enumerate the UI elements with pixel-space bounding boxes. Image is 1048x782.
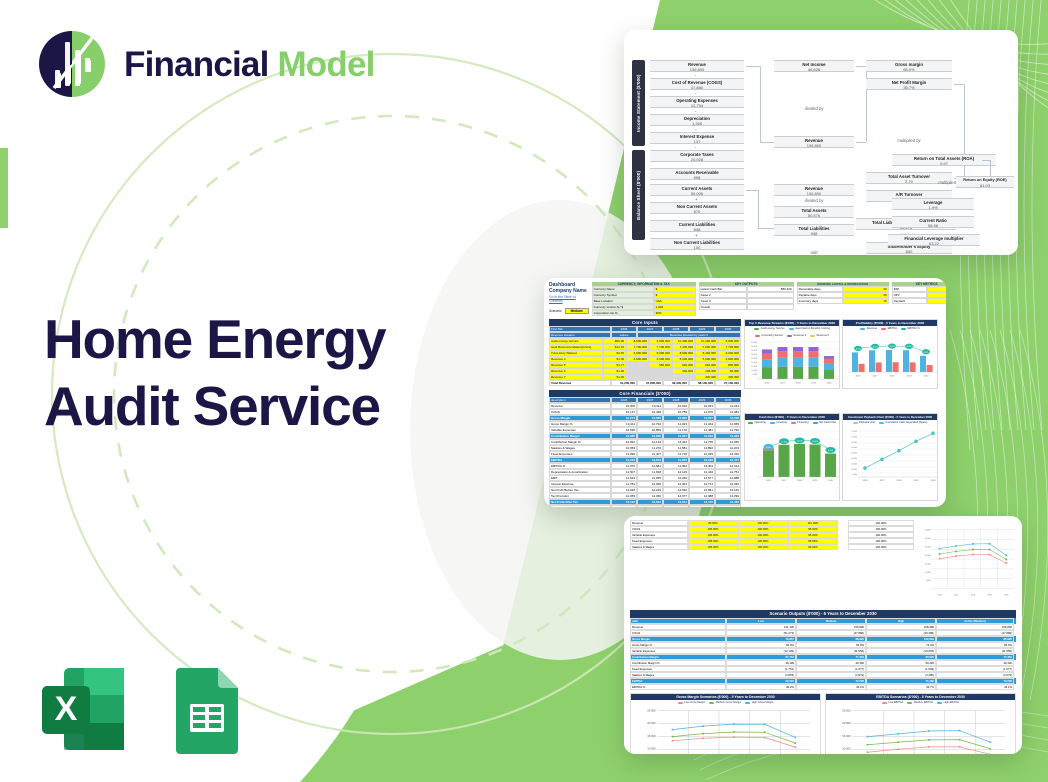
svg-text:15,000: 15,000 <box>842 734 851 738</box>
chart-profitability[interactable]: Profitability ($'000) - 5 Years to Decem… <box>842 319 938 389</box>
currency-info-panel: CURRENCY, INFORMATION & TAX Currency Nam… <box>592 282 696 316</box>
flow-box: Total Liabilities 948 <box>774 224 854 236</box>
svg-text:-: - <box>930 589 931 591</box>
operator-label: add <box>774 250 854 255</box>
svg-text:10,000: 10,000 <box>647 747 656 751</box>
legend-entry: Low EBITDA <box>882 701 903 704</box>
svg-text:25,000: 25,000 <box>647 709 656 713</box>
svg-text:30,000: 30,000 <box>851 458 857 460</box>
table-row: 100.00% <box>848 544 914 550</box>
flow-box: Operating Expenses 12,754 <box>650 96 744 108</box>
svg-text:25,000: 25,000 <box>842 709 851 713</box>
connector <box>856 142 866 143</box>
svg-text:35,000: 35,000 <box>925 530 932 532</box>
svg-text:2027: 2027 <box>780 383 786 385</box>
flow-box: Interest Expense 137 <box>650 132 744 144</box>
key-metrics-panel: KEY METRICS IRR48% NPV66,200 Payback2.1 <box>892 282 946 304</box>
svg-text:20,000: 20,000 <box>842 721 851 725</box>
chart-title: Gross Margin Scenarios ($'000) - 5 Years… <box>631 694 820 701</box>
scenario-table-title: Scenario Outputs ($'000) - 5 Years to De… <box>630 610 1016 618</box>
page-title: Home Energy Audit Service <box>44 306 504 440</box>
operator-label: divided by <box>774 198 854 203</box>
svg-text:8,000: 8,000 <box>766 447 772 449</box>
legend-entry: Medium EBITDA <box>907 701 933 704</box>
flow-box: Net Profit Margin 35.7% <box>866 78 952 90</box>
svg-text:-: - <box>756 378 757 380</box>
svg-text:15,000: 15,000 <box>647 734 656 738</box>
scenario-top-chart[interactable]: 35,00030,00025,00020,00015,00010,0005,00… <box>918 520 1016 607</box>
working-capital-panel: WORKING CAPITAL & DEPRECIATION Receivabl… <box>797 282 889 304</box>
flow-box: Accounts Receivable 998 <box>650 168 744 180</box>
scenario-active-table: 100.00%100.00%100.00%100.00%100.00% <box>848 520 914 607</box>
svg-text:44.5%: 44.5% <box>889 346 895 348</box>
chart-plot: 25,00020,00015,00010,0005,000- 202620272… <box>826 705 1015 754</box>
dashboard-sheet: Dashboard Company Name Go to the Table o… <box>544 278 946 507</box>
svg-text:2030: 2030 <box>924 376 930 378</box>
flow-box: Revenue 136,800 <box>774 184 854 196</box>
dashboard-charts: Top 5 Revenue Streams ($'000) - 5 Years … <box>744 319 940 507</box>
flow-box: Corporate Taxes 20,928 <box>650 150 744 162</box>
svg-text:10,000: 10,000 <box>925 572 932 574</box>
legend-entry: Revenue 4 <box>787 334 806 337</box>
svg-text:42.6%: 42.6% <box>923 352 929 354</box>
chart-plot: 8,00011,70012,10011,9008,700 20262027202… <box>745 425 841 489</box>
financial-model-logo-icon <box>36 28 108 100</box>
legend-entry: Operating <box>748 421 766 424</box>
svg-text:2029: 2029 <box>907 376 913 378</box>
legend-entry: Revenue 5 <box>810 334 829 337</box>
svg-text:5,000: 5,000 <box>752 374 757 376</box>
scenario-value[interactable]: Medium <box>565 308 589 314</box>
operator-label: multiplied by <box>866 138 952 143</box>
brand-logo: Financial Model <box>36 28 375 100</box>
scenario-selector[interactable]: Scenario Medium <box>549 308 589 314</box>
svg-text:50,000: 50,000 <box>851 448 857 450</box>
scenario-active-rows: 100.00%100.00%100.00%100.00%100.00% <box>848 520 914 550</box>
svg-text:2027: 2027 <box>873 376 879 378</box>
chart-legend: Audit energy ServiceHeat Flash & Benefit… <box>745 326 839 338</box>
svg-text:2030: 2030 <box>828 480 834 482</box>
svg-text:2030: 2030 <box>931 480 937 482</box>
legend-entry: EBITDA <box>881 327 897 330</box>
svg-text:2030: 2030 <box>827 383 833 385</box>
core-inputs-block: Core Inputs First Tab2026202720282029203… <box>549 319 741 507</box>
stream-rows: Audit energy Service$69.008,900,0009,900… <box>549 338 741 380</box>
legend-entry: Heat Flash & Benefits Costing <box>789 327 830 330</box>
svg-text:30,000: 30,000 <box>751 354 757 356</box>
svg-text:25,000: 25,000 <box>925 546 932 548</box>
connector <box>982 160 990 161</box>
svg-text:8,700: 8,700 <box>828 450 834 452</box>
flow-box: Current Ratio 58.98 <box>892 216 974 228</box>
dashboard-heading-2: Company Name <box>549 288 589 294</box>
chart-cash-flow[interactable]: Cash flow ($'000) - 5 Years to December … <box>744 413 840 501</box>
svg-text:2028: 2028 <box>796 383 802 385</box>
scenario-bottom-charts: Gross Margin Scenarios ($'000) - 5 Years… <box>630 693 1016 754</box>
google-sheets-icon <box>162 664 252 754</box>
svg-text:75,000: 75,000 <box>851 431 857 433</box>
svg-text:2028: 2028 <box>797 480 803 482</box>
logo-word-model: Model <box>277 45 374 84</box>
toc-link[interactable]: Go to the Table of Contents <box>549 295 589 303</box>
svg-text:X: X <box>55 690 78 728</box>
connector <box>760 66 761 142</box>
svg-text:2027: 2027 <box>954 594 958 596</box>
legend-entry: High Gross Margin <box>745 701 773 704</box>
chart-plot: 20262027202820292030 75,00070,00060,0005… <box>843 425 939 489</box>
flow-box: Non Current Liabilities 100 <box>650 238 744 250</box>
svg-text:20,000: 20,000 <box>751 362 757 364</box>
legend-entry: Cumulative Cash Generated (Spare) <box>879 421 928 424</box>
chart-investment-payback[interactable]: Investment Payback Chart ($'000) - 5 Yea… <box>842 413 938 501</box>
table-row: Salaries & Wages105.00%100.00%95.00% <box>630 544 838 550</box>
svg-text:30,000: 30,000 <box>925 538 932 540</box>
flow-box: Net Income 46,828 <box>774 60 854 72</box>
scenario-assumption-table: Revenue80.00%100.00%110.00%COGS105.00%10… <box>630 520 838 607</box>
svg-text:43.9%: 43.9% <box>872 347 878 349</box>
svg-text:10,000: 10,000 <box>851 469 857 471</box>
scenario-table-rows: Revenue131,130156,800168,480156,800COGS(… <box>630 624 1016 690</box>
chart-plot: 20262027202820292030 45,00040,00035,0003… <box>745 338 841 386</box>
svg-text:20,000: 20,000 <box>647 721 656 725</box>
scenario-label: Scenario <box>549 309 562 313</box>
svg-text:11,900: 11,900 <box>812 441 819 443</box>
legend-entry: Medium Gross Margin <box>709 701 741 704</box>
svg-text:15,000: 15,000 <box>751 366 757 368</box>
flow-box: Revenue 136,800 <box>774 136 854 148</box>
screenshot-financial-flow-diagram[interactable]: Income Statement ($'000) Balance Sheet (… <box>624 30 1018 255</box>
svg-text:2029: 2029 <box>987 594 991 596</box>
screenshot-dashboard[interactable]: Dashboard Company Name Go to the Table o… <box>544 278 946 507</box>
total-revenue-label: Total Revenue <box>549 380 611 386</box>
svg-text:2028: 2028 <box>897 480 903 482</box>
dashboard-body: Core Inputs First Tab2026202720282029203… <box>549 319 941 507</box>
compatible-apps: X <box>38 664 252 754</box>
svg-text:60,000: 60,000 <box>851 442 857 444</box>
legend-entry: Consulting Service <box>755 334 783 337</box>
connector <box>856 66 866 67</box>
svg-text:2026: 2026 <box>765 383 771 385</box>
chart-plot-summary: 35,00030,00025,00020,00015,00010,0005,00… <box>918 520 1016 602</box>
svg-text:2026: 2026 <box>863 480 869 482</box>
dashboard-title-block: Dashboard Company Name Go to the Table o… <box>549 282 589 314</box>
legend-entry: Financing <box>791 421 809 424</box>
flow-box: Gross margin 65.0% <box>866 60 952 72</box>
flow-box: Cost of Revenue (COGS) 47,880 <box>650 78 744 90</box>
connector <box>954 84 964 85</box>
core-financials-title: Core Financials ($'000) <box>549 390 741 397</box>
legend-entry: Revenue <box>860 327 877 330</box>
flow-diagram: Income Statement ($'000) Balance Sheet (… <box>630 58 1014 249</box>
legend-entry: Investing <box>770 421 787 424</box>
svg-text:10,000: 10,000 <box>842 747 851 751</box>
key-outputs-panel: KEY OUTPUTS Latest Cash Bal.580,440 Asse… <box>699 282 794 310</box>
svg-text:40,000: 40,000 <box>751 346 757 348</box>
page-title-line-2: Audit Service <box>44 373 504 440</box>
svg-text:15,000: 15,000 <box>925 563 932 565</box>
svg-text:2030: 2030 <box>1004 594 1009 596</box>
connector <box>746 190 758 191</box>
flow-box: Current Assets 50,006 <box>650 184 744 196</box>
dashboard-header: Dashboard Company Name Go to the Table o… <box>549 282 941 316</box>
band-income-statement: Income Statement ($'000) <box>632 60 645 146</box>
flow-sheet: Income Statement ($'000) Balance Sheet (… <box>624 30 1018 255</box>
connector <box>758 190 759 228</box>
svg-text:70,000: 70,000 <box>851 437 857 439</box>
logo-wordmark: Financial Model <box>124 47 375 82</box>
currency-rows: Currency Name$ Currency Symbol$ Base Loc… <box>592 286 696 316</box>
chart-top-revenue-streams[interactable]: Top 5 Revenue Streams ($'000) - 5 Years … <box>744 319 840 389</box>
legend-entry: Payback year <box>853 421 875 424</box>
core-financial-rows: Revenue10,00010,31110,62210,93311,244COG… <box>549 403 741 507</box>
connector <box>758 228 774 229</box>
flow-box: Leverage 1.9% <box>892 198 974 210</box>
table-row: Net Profit After Tax %12,32912,64012,951… <box>549 505 741 507</box>
flow-box: Depreciation 1,265 <box>650 114 744 126</box>
legend-entry: Net Cash Flow <box>813 421 837 424</box>
svg-text:2026: 2026 <box>937 594 941 596</box>
legend-entry: Low Gross Margin <box>678 701 706 704</box>
logo-word-financial: Financial <box>124 45 269 84</box>
flow-box-roe: Return on Equity (ROE) 61.03 <box>956 176 1014 188</box>
page-title-line-1: Home Energy <box>44 306 504 373</box>
svg-text:40,000: 40,000 <box>851 453 857 455</box>
flow-box: Current Liabilities 848 <box>650 220 744 232</box>
flow-box: Revenue 136,800 <box>650 60 744 72</box>
svg-text:2028: 2028 <box>890 376 896 378</box>
svg-text:5,000: 5,000 <box>926 580 932 582</box>
svg-text:20,000: 20,000 <box>851 464 857 466</box>
svg-text:41.9%: 41.9% <box>855 349 861 351</box>
svg-text:35,000: 35,000 <box>751 350 757 352</box>
svg-text:20,000: 20,000 <box>925 555 932 557</box>
svg-text:2026: 2026 <box>766 480 772 482</box>
flow-box: Financial Leverage multiplier 63.22 <box>888 234 980 246</box>
screenshot-scenario-outputs[interactable]: Revenue80.00%100.00%110.00%COGS105.00%10… <box>624 516 1022 754</box>
svg-text:2026: 2026 <box>856 376 862 378</box>
svg-text:2027: 2027 <box>782 480 788 482</box>
flow-box: Total Assets 50,576 <box>774 206 854 218</box>
connector <box>760 142 774 143</box>
scenario-top: Revenue80.00%100.00%110.00%COGS105.00%10… <box>630 520 1016 607</box>
flow-box-roa: Return on Total Assets (ROA) 0.97 <box>892 154 996 166</box>
table-row: EBITDA %40.2%43.1%43.7%43.1% <box>630 684 1016 690</box>
operator-label: divided by <box>774 106 854 111</box>
connector <box>746 66 760 67</box>
svg-text:2029: 2029 <box>811 383 817 385</box>
svg-text:44.2%: 44.2% <box>906 347 912 349</box>
svg-text:45,000: 45,000 <box>751 342 757 344</box>
core-inputs-title: Core Inputs <box>549 319 741 326</box>
svg-text:5,000: 5,000 <box>852 475 857 477</box>
legend-entry: High EBITDA <box>937 701 959 704</box>
chart-title: EBITDA Scenarios ($'000) - 5 Years to De… <box>826 694 1015 701</box>
chart-ebitda-scenarios[interactable]: EBITDA Scenarios ($'000) - 5 Years to De… <box>825 693 1016 754</box>
svg-text:2029: 2029 <box>813 480 819 482</box>
legend-entry: Audit energy Service <box>754 327 784 330</box>
left-content-column: Financial Model Home Energy Audit Servic… <box>0 0 520 782</box>
microsoft-excel-icon: X <box>38 664 128 754</box>
band-balance-sheet: Balance Sheet ($'000) <box>632 150 645 240</box>
svg-text:2029: 2029 <box>914 480 920 482</box>
chart-gross-margin-scenarios[interactable]: Gross Margin Scenarios ($'000) - 5 Years… <box>630 693 821 754</box>
svg-text:12,100: 12,100 <box>796 441 803 443</box>
svg-text:2028: 2028 <box>971 594 975 596</box>
svg-text:10,000: 10,000 <box>751 370 757 372</box>
chart-plot: 25,00020,00015,00010,0005,000- 202620272… <box>631 705 820 754</box>
legend-entry: EBITDA % <box>901 327 920 330</box>
svg-text:25,000: 25,000 <box>751 358 757 360</box>
svg-text:11,700: 11,700 <box>781 442 788 444</box>
scenario-assumption-rows: Revenue80.00%100.00%110.00%COGS105.00%10… <box>630 520 838 550</box>
flow-box: Non Current Assets 570 <box>650 202 744 214</box>
scenario-sheet: Revenue80.00%100.00%110.00%COGS105.00%10… <box>624 516 1022 754</box>
svg-text:2027: 2027 <box>880 480 886 482</box>
chart-plot: 41.9%43.9%44.5%44.2%42.6% 20262027202820… <box>843 331 939 379</box>
